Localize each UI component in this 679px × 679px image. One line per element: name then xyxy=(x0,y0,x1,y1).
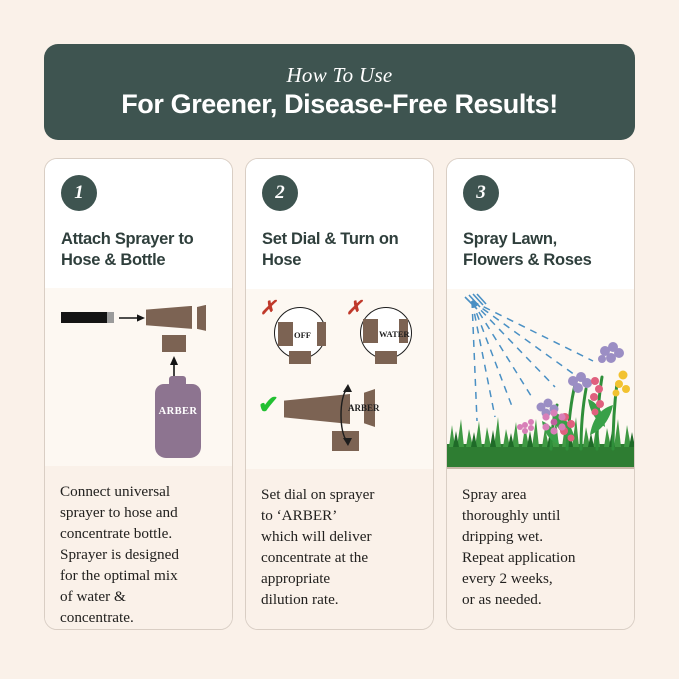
step-2-body-text: Set dial on sprayer to ‘ARBER’ which wil… xyxy=(246,469,433,629)
step-card-3: 3 Spray Lawn, Flowers & Roses xyxy=(446,158,635,630)
bottle-brand-label: ARBER xyxy=(155,406,201,417)
header-eyebrow: How To Use xyxy=(286,64,392,87)
correct-mark-arber: ✔ xyxy=(258,393,279,418)
dial-bottom-block-off xyxy=(289,351,311,364)
step-3-illustration xyxy=(447,289,634,469)
concentrate-bottle-icon xyxy=(155,384,201,458)
sprayer-neck-icon xyxy=(197,305,206,331)
step-card-2: 2 Set Dial & Turn on Hose ✗ OFF ✗ WATER xyxy=(245,158,434,630)
spray-rays-icon xyxy=(472,301,593,421)
step-3-title: Spray Lawn, Flowers & Roses xyxy=(463,229,618,271)
step-1-header: 1 Attach Sprayer to Hose & Bottle xyxy=(45,159,232,288)
incorrect-mark-water: ✗ xyxy=(346,297,362,320)
step-card-1: 1 Attach Sprayer to Hose & Bottle xyxy=(44,158,233,630)
hose-tip-icon xyxy=(107,312,114,323)
step-1-body-text: Connect universal sprayer to hose and co… xyxy=(45,466,232,629)
step-3-body-text: Spray area thoroughly until dripping wet… xyxy=(447,469,634,629)
incorrect-mark-off: ✗ xyxy=(260,297,276,320)
illustration-base-line xyxy=(447,467,634,469)
step-3-header: 3 Spray Lawn, Flowers & Roses xyxy=(447,159,634,289)
grass-icon xyxy=(447,417,634,467)
step-1-title: Attach Sprayer to Hose & Bottle xyxy=(61,229,216,271)
step-number-badge-3: 3 xyxy=(463,175,499,211)
step-number-badge-2: 2 xyxy=(262,175,298,211)
dial-left-block-off xyxy=(278,322,293,346)
spray-scene-graphic xyxy=(447,289,634,469)
arrow-right-icon xyxy=(119,312,145,324)
dial-left-block-water xyxy=(363,319,378,343)
sprayer-body-icon xyxy=(146,306,192,329)
step-1-illustration: ARBER xyxy=(45,288,232,466)
dial-bottom-block-water xyxy=(375,351,397,364)
sprayer-dial-icon xyxy=(162,335,186,352)
step-number-badge-1: 1 xyxy=(61,175,97,211)
step-2-illustration: ✗ OFF ✗ WATER ✔ ARBER xyxy=(246,289,433,469)
header-title: For Greener, Disease-Free Results! xyxy=(121,89,558,120)
nozzle-icon xyxy=(465,294,486,309)
dial-right-block-off xyxy=(317,322,326,346)
steps-card-row: 1 Attach Sprayer to Hose & Bottle xyxy=(44,158,635,630)
hose-icon xyxy=(61,312,107,323)
step-2-title: Set Dial & Turn on Hose xyxy=(262,229,417,271)
dial-label-water: WATER xyxy=(379,329,410,339)
header-banner: How To Use For Greener, Disease-Free Res… xyxy=(44,44,635,140)
step-2-header: 2 Set Dial & Turn on Hose xyxy=(246,159,433,289)
rotate-dial-arrow-icon xyxy=(336,381,356,449)
dial-label-off: OFF xyxy=(294,330,311,340)
infographic-page: How To Use For Greener, Disease-Free Res… xyxy=(0,0,679,679)
